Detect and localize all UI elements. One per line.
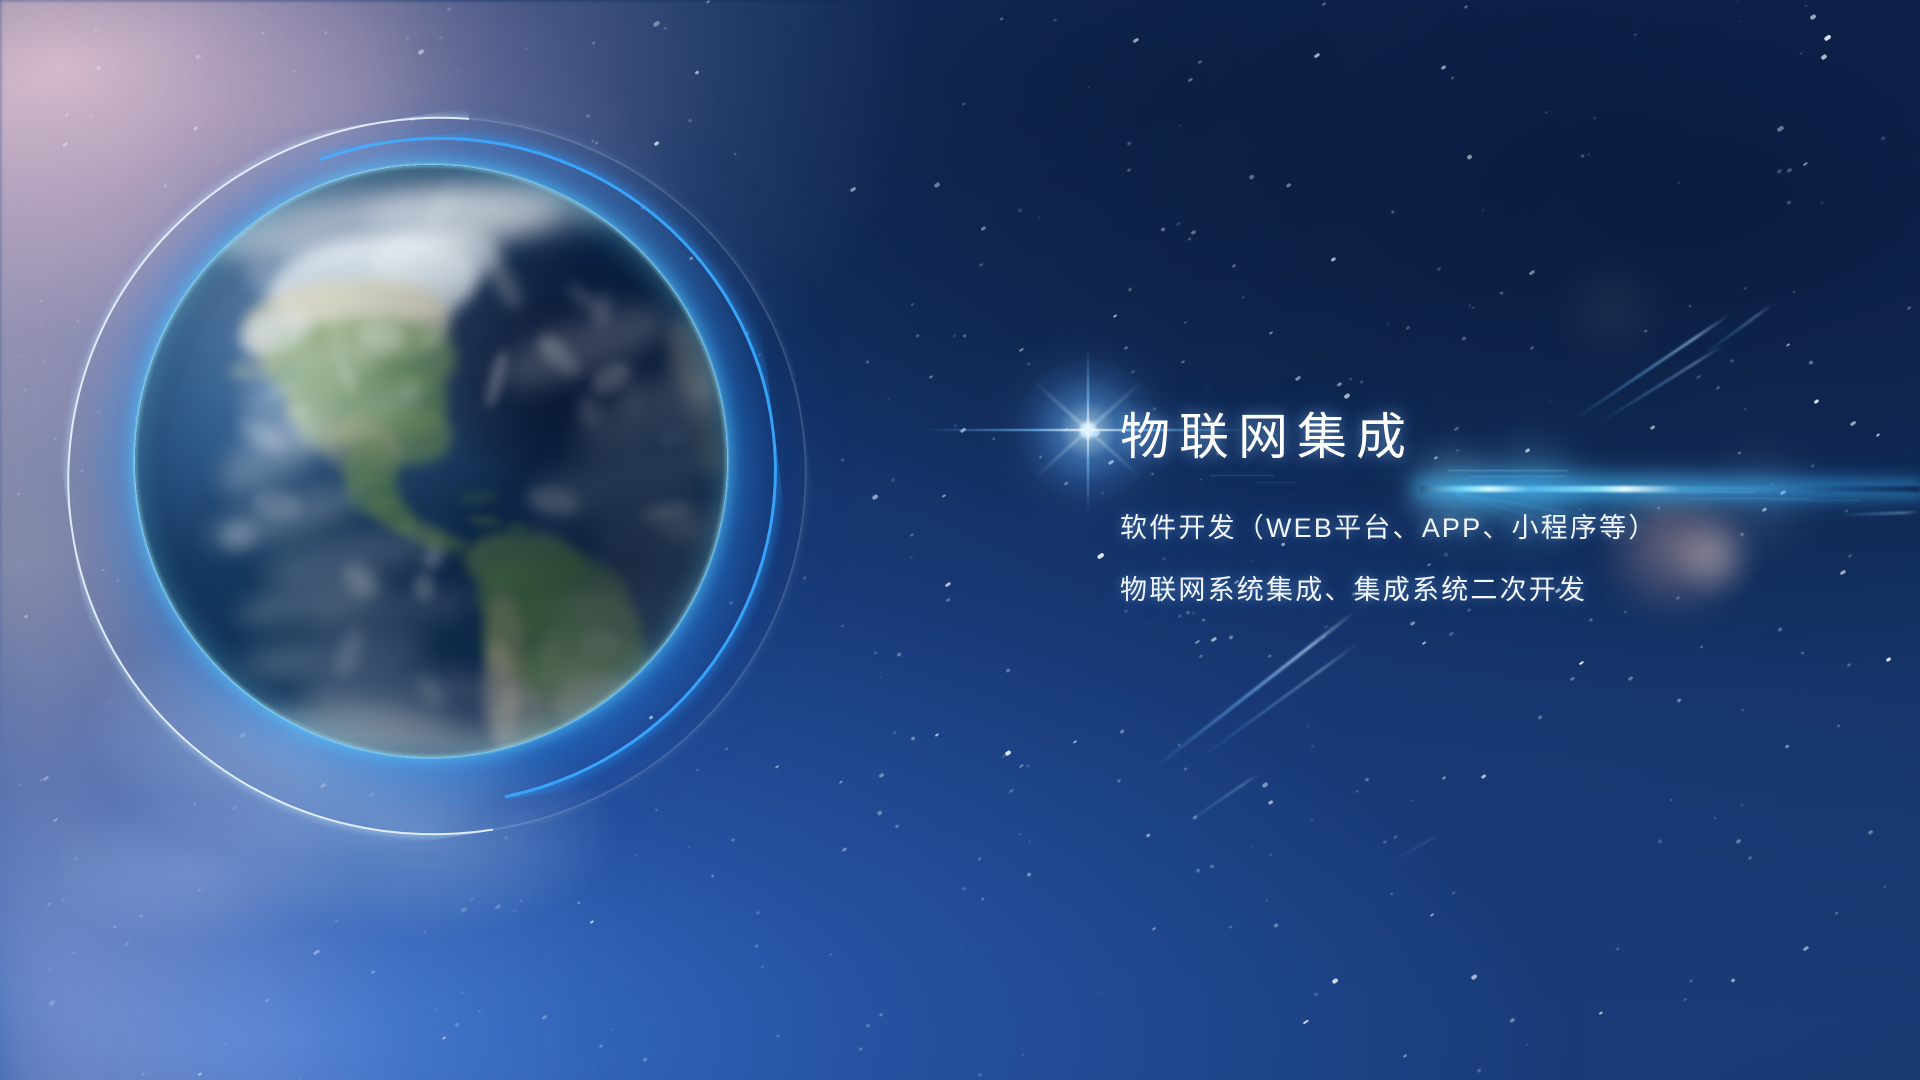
subtitle-line-1: 软件开发（WEB平台、APP、小程序等） (1120, 506, 1860, 545)
warm-glow-spot (200, 0, 460, 250)
warm-glow-spot (1567, 267, 1657, 357)
subtitle-line-2: 物联网系统集成、集成系统二次开发 (1120, 568, 1860, 607)
meteor-streak (1180, 772, 1260, 827)
meteor-streak (1380, 833, 1441, 869)
page-title: 物联网集成 (1120, 410, 1860, 464)
earth-globe (135, 165, 727, 757)
meteor-streak (1149, 610, 1355, 772)
hero-text-block: 物联网集成 软件开发（WEB平台、APP、小程序等） 物联网系统集成、集成系统二… (1120, 410, 1860, 607)
hero-banner: 物联网集成 软件开发（WEB平台、APP、小程序等） 物联网系统集成、集成系统二… (0, 0, 1920, 1080)
meteor-streak (1195, 643, 1358, 762)
meteor-streak (1700, 303, 1774, 357)
